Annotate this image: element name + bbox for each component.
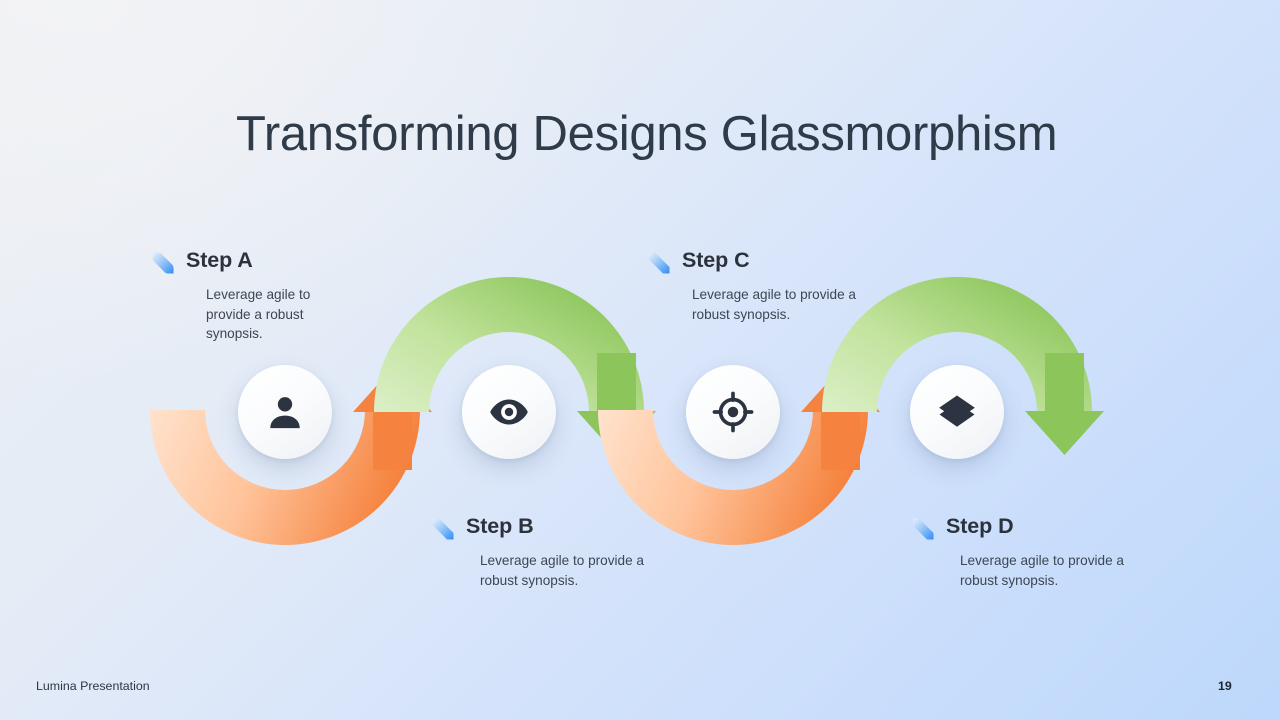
- footer-label: Lumina Presentation: [36, 679, 150, 693]
- step-a-description: Leverage agile to provide a robust synop…: [206, 285, 331, 344]
- page-number: 19: [1218, 679, 1232, 693]
- arrow-down-right-icon: [148, 248, 178, 278]
- target-icon: [712, 391, 754, 433]
- step-bubble-d[interactable]: [910, 365, 1004, 459]
- step-b-description: Leverage agile to provide a robust synop…: [480, 551, 660, 590]
- step-card-c: Step C Leverage agile to provide a robus…: [644, 246, 876, 324]
- step-bubble-a[interactable]: [238, 365, 332, 459]
- arrow-down-right-icon: [644, 248, 674, 278]
- step-d-title: Step D: [946, 512, 1014, 540]
- step-card-d: Step D Leverage agile to provide a robus…: [908, 512, 1140, 590]
- step-bubble-b[interactable]: [462, 365, 556, 459]
- step-a-header: Step A: [148, 246, 380, 278]
- slide-canvas: Transforming Designs Glassmorphism: [0, 0, 1280, 720]
- page-title: Transforming Designs Glassmorphism: [236, 106, 1057, 162]
- step-b-header: Step B: [428, 512, 660, 544]
- step-a-title: Step A: [186, 246, 253, 274]
- step-card-b: Step B Leverage agile to provide a robus…: [428, 512, 660, 590]
- eye-icon: [487, 390, 531, 434]
- arrow-down-right-icon: [428, 514, 458, 544]
- step-b-title: Step B: [466, 512, 534, 540]
- layers-icon: [936, 391, 978, 433]
- person-icon: [264, 391, 306, 433]
- step-card-a: Step A Leverage agile to provide a robus…: [148, 246, 380, 344]
- step-c-header: Step C: [644, 246, 876, 278]
- step-d-description: Leverage agile to provide a robust synop…: [960, 551, 1140, 590]
- step-bubble-c[interactable]: [686, 365, 780, 459]
- step-d-header: Step D: [908, 512, 1140, 544]
- step-c-description: Leverage agile to provide a robust synop…: [692, 285, 872, 324]
- arrow-down-right-icon: [908, 514, 938, 544]
- step-c-title: Step C: [682, 246, 750, 274]
